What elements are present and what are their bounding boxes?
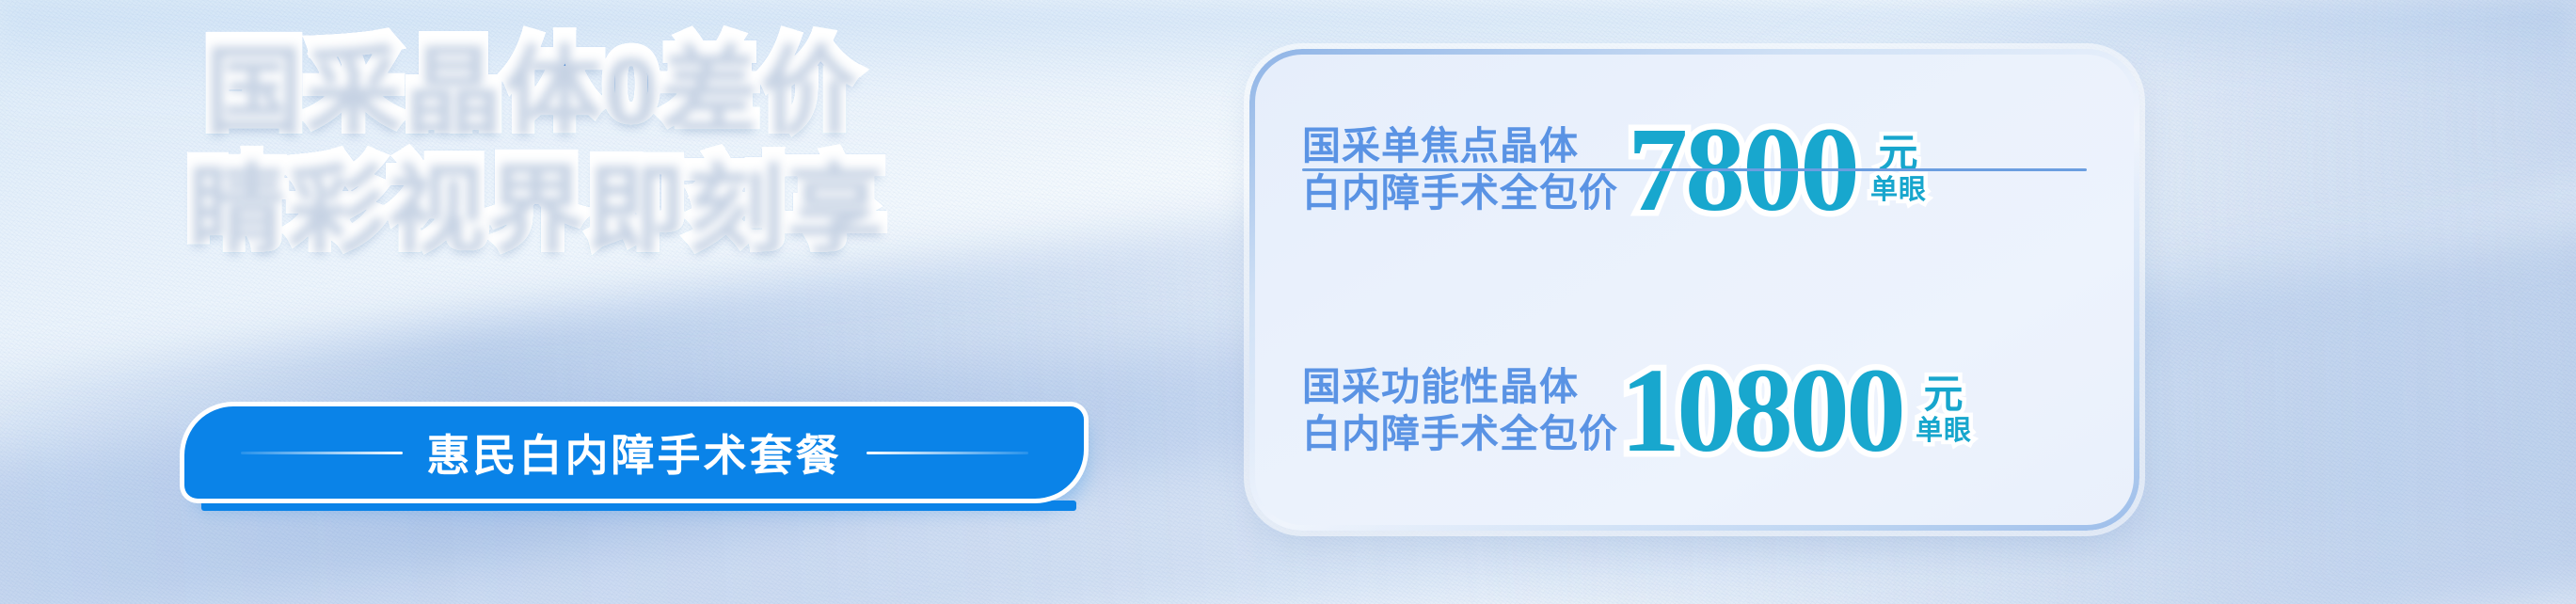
price-scope: 单眼 [1870,176,1927,206]
price-scope: 单眼 [1916,417,1972,447]
headline-line-2: 睛彩视界即刻享 [188,154,922,252]
price-description-line-1: 国采功能性晶体 [1302,363,1618,410]
ribbon-underbar [201,501,1076,511]
headline-line-1: 国采晶体0差价 [205,36,922,134]
price-description: 国采功能性晶体 白内障手术全包价 [1302,363,1618,457]
price-card: 国采单焦点晶体 白内障手术全包价 7800 元 单眼 国采功能性晶体 白内障手术… [1249,49,2139,531]
price-description-line-1: 国采单焦点晶体 [1302,122,1618,169]
price-description-line-2: 白内障手术全包价 [1302,169,1618,216]
headline-block: 国采晶体0差价 睛彩视界即刻享 [188,36,922,252]
ribbon-body: 惠民白内障手术套餐 [184,406,1084,499]
headline-line-2-text: 睛彩视界即刻享 [188,149,886,258]
price-row: 国采功能性晶体 白内障手术全包价 10800 元 单眼 [1249,290,2139,531]
price-row-divider [1302,168,2087,171]
promo-banner: 国采晶体0差价 睛彩视界即刻享 惠民白内障手术套餐 国采单焦点晶体 白内障手术全… [0,0,2576,604]
price-amount: 10800 [1620,354,1902,467]
subtitle-ribbon: 惠民白内障手术套餐 [184,406,1106,529]
price-description-line-2: 白内障手术全包价 [1302,410,1618,457]
price-row-list: 国采单焦点晶体 白内障手术全包价 7800 元 单眼 国采功能性晶体 白内障手术… [1249,49,2139,531]
headline-line-1-text: 国采晶体0差价 [205,30,860,139]
ribbon-rule-right-icon [867,452,1028,454]
price-currency: 元 [1924,374,1964,416]
ribbon-rule-left-icon [241,452,403,454]
price-unit: 元 单眼 [1916,374,1972,447]
ribbon-label: 惠民白内障手术套餐 [427,421,842,484]
price-row: 国采单焦点晶体 白内障手术全包价 7800 元 单眼 [1249,49,2139,290]
